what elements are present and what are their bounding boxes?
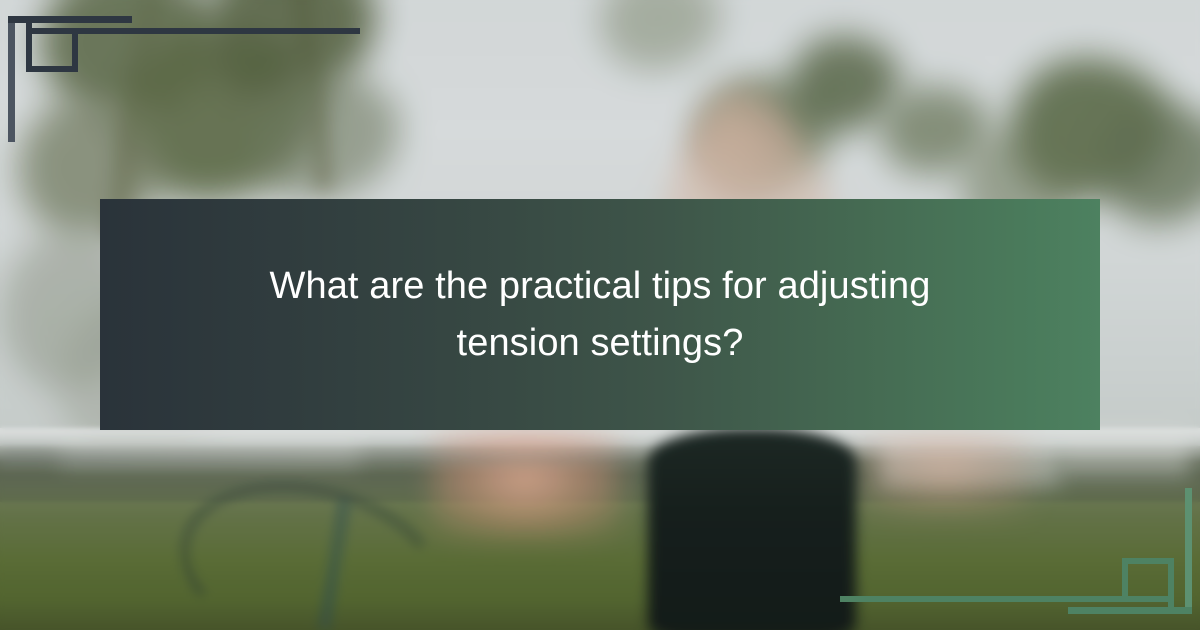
corner-ornament-bottom-right [1010, 458, 1200, 630]
ornament-square-bottom [1122, 558, 1174, 564]
question-title: What are the practical tips for adjustin… [250, 258, 950, 372]
ornament-square-left [26, 28, 32, 72]
ornament-long-rule [840, 596, 1156, 602]
question-banner: What are the practical tips for adjustin… [100, 199, 1100, 430]
ornament-square-bottom [26, 66, 78, 72]
ornament-long-rule [44, 28, 360, 34]
warm-color-patch [430, 428, 620, 538]
ornament-square-right [72, 28, 78, 72]
warm-color-patch [860, 430, 1030, 516]
ornament-horizontal-rule [1068, 607, 1128, 614]
ornament-vertical-rule [1185, 488, 1192, 614]
share-card: What are the practical tips for adjustin… [0, 0, 1200, 630]
ornament-horizontal-rule [72, 16, 132, 23]
railing [0, 452, 640, 465]
person-silhouette [648, 428, 856, 630]
corner-ornament-top-left [0, 0, 190, 172]
ornament-vertical-rule [8, 16, 15, 142]
ornament-square-left [1168, 558, 1174, 602]
